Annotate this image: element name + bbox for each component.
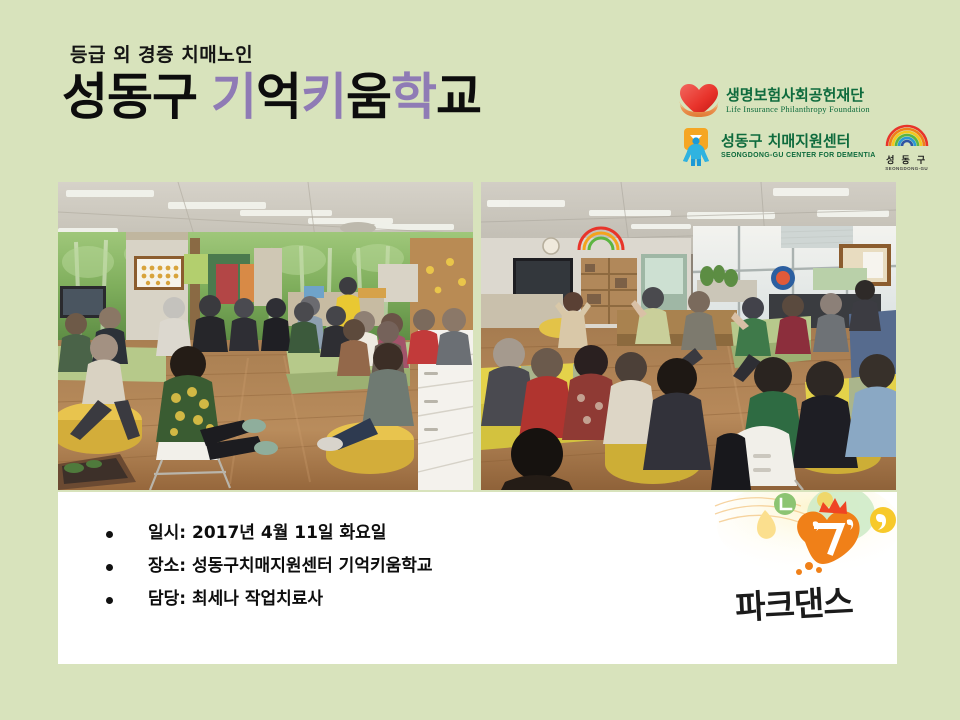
title-segment-5: 학 [391,68,436,126]
foundation-name-en: Life Insurance Philanthropy Foundation [726,105,870,114]
page-title: 성동구기억키움학교 [62,71,662,124]
person-square-icon [676,127,716,167]
center-logo-text: 성동구 치매지원센터 SEONGDONG-GU CENTER FOR DEMEN… [721,134,876,159]
heart-hands-icon [676,82,722,120]
title-segment-4: 움 [346,68,391,126]
eyebrow-text: 등급 외 경증 치매노인 [70,46,662,65]
group-session-photo-right [481,182,896,490]
foundation-name-ko: 생명보험사회공헌재단 [726,88,870,104]
list-item: 장소: 성동구치매지원센터 기억키움학교 [98,558,433,575]
header-block: 등급 외 경증 치매노인 성동구기억키움학교 [62,46,662,124]
list-item: 담당: 최세나 작업치료사 [98,591,433,608]
logo-stack: 생명보험사회공헌재단 Life Insurance Philanthropy F… [676,79,906,169]
center-logo: 성동구 치매지원센터 SEONGDONG-GU CENTER FOR DEMEN… [676,125,906,169]
list-item: 일시: 2017년 4월 11일 화요일 [98,525,433,542]
title-segment-0: 성동구 [62,68,197,126]
title-segment-3: 키 [301,68,346,126]
district-logo: 성 동 구 SEONGDONG-GU [884,123,930,171]
slide-canvas: 등급 외 경증 치매노인 성동구기억키움학교 [0,0,960,720]
group-session-photo-left [58,182,473,490]
district-name-ko: 성 동 구 [884,153,930,166]
brand-name-text: 파크댄스 [734,575,854,629]
center-name-en: SEONGDONG-GU CENTER FOR DEMENTIA [721,152,876,159]
district-name-en: SEONGDONG-GU [884,166,930,171]
foundation-logo: 생명보험사회공헌재단 Life Insurance Philanthropy F… [676,79,906,123]
info-panel: 일시: 2017년 4월 11일 화요일 장소: 성동구치매지원센터 기억키움학… [58,492,897,664]
foundation-logo-text: 생명보험사회공헌재단 Life Insurance Philanthropy F… [726,88,870,114]
detail-list: 일시: 2017년 4월 11일 화요일 장소: 성동구치매지원센터 기억키움학… [98,525,433,608]
center-name-ko: 성동구 치매지원센터 [721,134,876,150]
rainbow-icon [884,123,930,147]
title-segment-6: 교 [436,68,481,126]
title-segment-2: 억 [256,68,301,126]
park-dance-logo: 파크댄스 [713,492,897,664]
title-segment-1: 기 [211,68,256,126]
